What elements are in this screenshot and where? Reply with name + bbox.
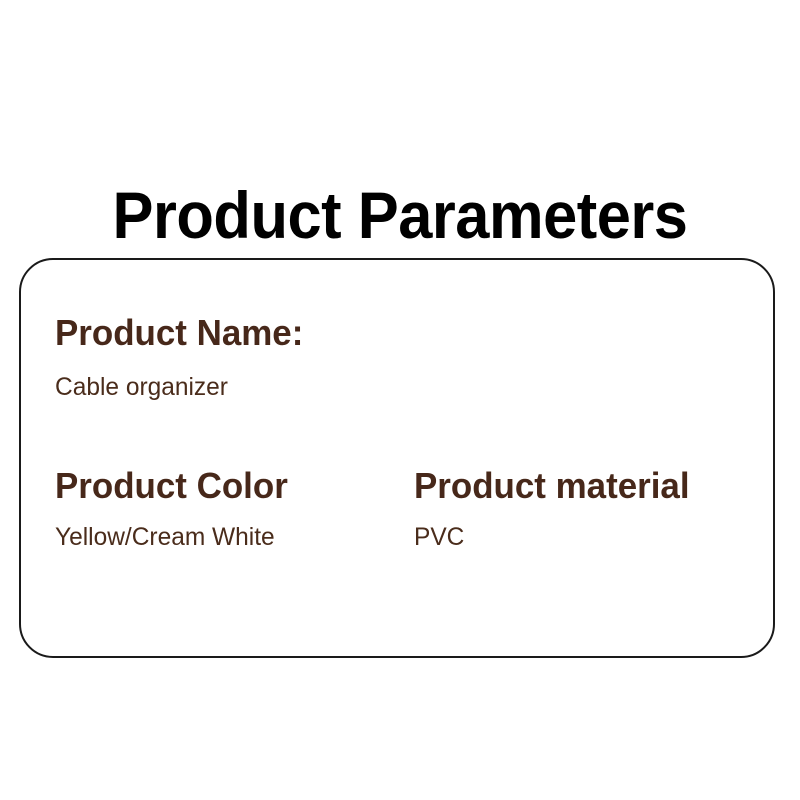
field-product-material: Product material PVC <box>414 466 698 552</box>
field-label-product-color: Product Color <box>55 466 288 506</box>
product-parameters-page: Product Parameters Product Name: Cable o… <box>0 0 800 800</box>
page-title: Product Parameters <box>28 178 772 252</box>
product-parameters-card: Product Name: Cable organizer Product Co… <box>19 258 775 658</box>
field-product-color: Product Color Yellow/Cream White <box>55 466 295 552</box>
field-label-product-name: Product Name: <box>55 313 303 353</box>
field-value-product-material: PVC <box>414 522 692 552</box>
field-product-name: Product Name: Cable organizer <box>55 313 311 402</box>
field-label-product-material: Product material <box>414 466 690 506</box>
card-content: Product Name: Cable organizer Product Co… <box>21 260 773 656</box>
field-value-product-color: Yellow/Cream White <box>55 522 290 552</box>
field-value-product-name: Cable organizer <box>55 372 306 402</box>
